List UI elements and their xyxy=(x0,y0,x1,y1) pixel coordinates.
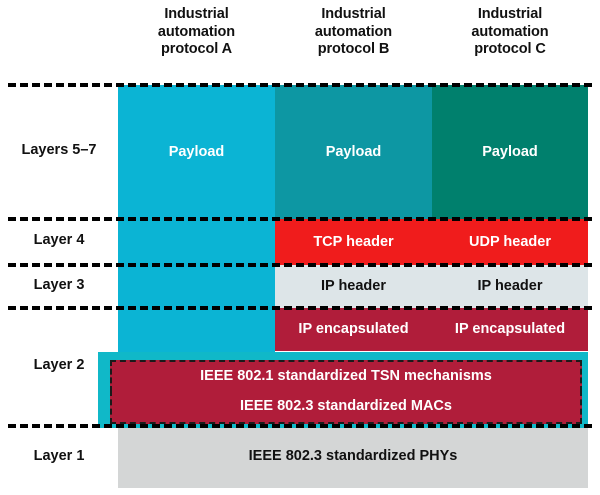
protocol-stack-diagram: Industrial automation protocol A Industr… xyxy=(0,0,600,495)
cell-tcp-header-protocol-b: TCP header xyxy=(275,219,432,265)
cell-layer3-protocol-a-empty xyxy=(118,265,275,308)
cell-payload-protocol-b: Payload xyxy=(275,85,432,219)
cell-layer4-protocol-a-empty xyxy=(118,219,275,265)
cell-standardized-macs: IEEE 802.3 standardized MACs xyxy=(110,390,582,424)
cell-standardized-phys: IEEE 802.3 standardized PHYs xyxy=(118,424,588,488)
tsn-highlight-box: IEEE 802.1 standardized TSN mechanisms I… xyxy=(98,352,588,428)
cell-udp-header-protocol-c: UDP header xyxy=(432,219,588,265)
layer-label-layer-1: Layer 1 xyxy=(0,424,118,488)
column-header-protocol-c: Industrial automation protocol C xyxy=(432,6,588,59)
column-header-protocol-a: Industrial automation protocol A xyxy=(118,6,275,59)
cell-payload-protocol-a: Payload xyxy=(118,85,275,219)
cell-ip-header-protocol-c: IP header xyxy=(432,265,588,308)
column-header-line: automation xyxy=(432,24,588,42)
column-header-line: automation xyxy=(275,24,432,42)
cell-payload-protocol-c: Payload xyxy=(432,85,588,219)
column-header-protocol-b: Industrial automation protocol B xyxy=(275,6,432,59)
cell-ip-encapsulated-protocol-b: IP encapsulated xyxy=(275,308,432,351)
column-header-line: protocol B xyxy=(275,41,432,59)
cell-ip-encapsulated-protocol-a-empty xyxy=(118,308,275,351)
cell-ip-header-protocol-b: IP header xyxy=(275,265,432,308)
column-header-line: automation xyxy=(118,24,275,42)
layer-label-layer-3: Layer 3 xyxy=(0,263,118,306)
cell-ip-encapsulated-protocol-c: IP encapsulated xyxy=(432,308,588,351)
column-header-line: Industrial xyxy=(275,6,432,24)
column-header-line: Industrial xyxy=(118,6,275,24)
column-header-line: protocol C xyxy=(432,41,588,59)
column-header-line: protocol A xyxy=(118,41,275,59)
layer-label-layer-2: Layer 2 xyxy=(0,306,118,424)
layer-label-layers-5-7: Layers 5–7 xyxy=(0,83,118,217)
column-header-line: Industrial xyxy=(432,6,588,24)
layer-label-layer-4: Layer 4 xyxy=(0,217,118,263)
cell-tsn-mechanisms: IEEE 802.1 standardized TSN mechanisms xyxy=(110,360,582,392)
